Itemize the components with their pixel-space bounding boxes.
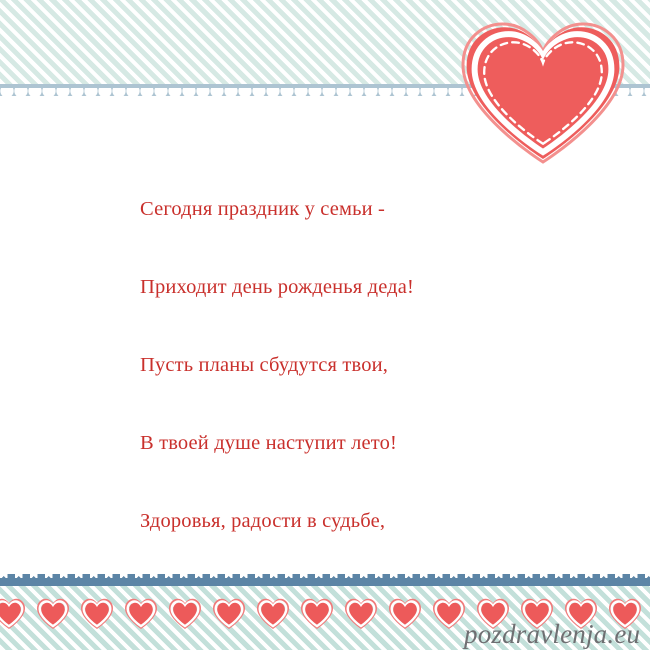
heart-icon <box>168 598 202 629</box>
heart-icon <box>461 22 625 164</box>
heart-icon <box>212 598 246 629</box>
heart-icon <box>124 598 158 629</box>
watermark: pozdravlenja.eu <box>464 619 640 650</box>
poem-line: Приходит день рожденья деда! <box>140 274 560 300</box>
poem-line: Здоровья, радости в судьбе, <box>140 508 560 534</box>
heart-icon <box>344 598 378 629</box>
heart-icon <box>80 598 114 629</box>
poem-line: В твоей душе наступит лето! <box>140 430 560 456</box>
heart-icon <box>432 598 466 629</box>
heart-icon <box>388 598 422 629</box>
heart-icon <box>300 598 334 629</box>
greeting-card: Сегодня праздник у семьи - Приходит день… <box>0 0 650 650</box>
poem-line: Пусть планы сбудутся твои, <box>140 352 560 378</box>
heart-icon <box>256 598 290 629</box>
heart-icon <box>36 598 70 629</box>
bottom-zigzag-edge <box>0 566 650 578</box>
poem-line: Сегодня праздник у семьи - <box>140 196 560 222</box>
bottom-white-fill <box>0 540 650 567</box>
heart-icon <box>0 598 26 629</box>
